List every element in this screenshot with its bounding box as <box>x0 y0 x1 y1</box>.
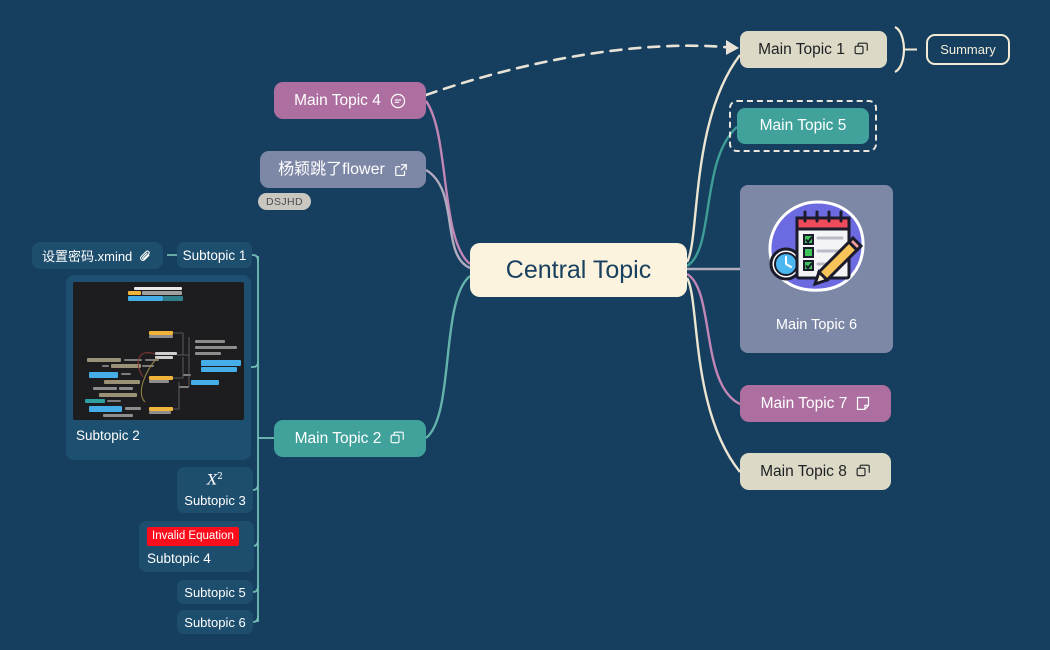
connector-central-to-mt3 <box>426 170 470 268</box>
main-topic-2-label: Main Topic 2 <box>295 431 382 447</box>
central-topic-label: Central Topic <box>506 258 651 283</box>
comment-icon[interactable] <box>390 93 406 109</box>
topic-yangying-flower[interactable]: 杨颖跳了flower <box>260 151 426 188</box>
central-topic[interactable]: Central Topic <box>470 243 687 297</box>
relationship-line-mt4-to-mt1[interactable] <box>426 46 735 95</box>
relationship-arrowhead <box>726 40 739 55</box>
topic-label-dsjhd-text: DSJHD <box>266 196 303 208</box>
copy-icon[interactable] <box>856 464 871 479</box>
equation-exponent: 2 <box>217 472 223 482</box>
subtopic-1[interactable]: Subtopic 1 <box>177 242 252 268</box>
topic-main-topic-5[interactable]: Main Topic 5 <box>737 108 869 144</box>
main-topic-1-label: Main Topic 1 <box>758 42 845 58</box>
checklist-calendar-pencil-clock-icon <box>740 185 893 318</box>
summary-node[interactable]: Summary <box>926 34 1010 65</box>
subtopic-1-label: Subtopic 1 <box>183 248 247 263</box>
connector-central-to-mt4 <box>426 101 470 264</box>
mindmap-canvas[interactable]: Central Topic Main Topic 1 Summary Main … <box>0 0 1050 650</box>
topic-main-topic-1[interactable]: Main Topic 1 <box>740 31 887 68</box>
connector-central-to-mt2 <box>426 276 470 438</box>
external-link-icon[interactable] <box>394 163 408 177</box>
main-topic-6-label: Main Topic 6 <box>776 318 857 337</box>
attachment-filename: 设置密码.xmind <box>42 246 132 265</box>
copy-icon[interactable] <box>390 431 405 446</box>
paperclip-icon[interactable] <box>139 249 153 263</box>
embedded-mindmap-image[interactable] <box>73 282 244 420</box>
invalid-equation-badge[interactable]: Invalid Equation <box>147 527 239 546</box>
main-topic-7-label: Main Topic 7 <box>761 396 848 412</box>
connector-to-st6 <box>253 616 258 622</box>
subtopic-3[interactable]: X2 Subtopic 3 <box>177 467 253 513</box>
attachment-file-node[interactable]: 设置密码.xmind <box>32 242 163 269</box>
subtopic-4-label: Subtopic 4 <box>147 551 211 566</box>
connector-central-to-mt8 <box>687 278 740 472</box>
topic-label-dsjhd[interactable]: DSJHD <box>258 193 311 210</box>
latex-equation[interactable]: X2 <box>207 472 223 489</box>
summary-bracket <box>893 25 921 74</box>
subtopic-2-label: Subtopic 2 <box>73 420 244 443</box>
connector-central-to-mt7 <box>687 274 740 404</box>
subtopic-5-label: Subtopic 5 <box>184 585 245 600</box>
equation-base: X <box>207 473 217 489</box>
topic-main-topic-6[interactable]: Main Topic 6 <box>740 185 893 353</box>
summary-label: Summary <box>940 43 996 56</box>
topic-main-topic-4[interactable]: Main Topic 4 <box>274 82 426 119</box>
subtopic-3-label: Subtopic 3 <box>184 493 245 508</box>
subtopic-4[interactable]: Invalid Equation Subtopic 4 <box>139 521 254 572</box>
subtopic-6[interactable]: Subtopic 6 <box>177 610 253 634</box>
copy-icon[interactable] <box>854 42 869 57</box>
connector-to-st3 <box>253 484 258 490</box>
subtopic-2[interactable]: Subtopic 2 <box>66 275 251 460</box>
note-icon[interactable] <box>856 396 870 411</box>
topic-main-topic-7[interactable]: Main Topic 7 <box>740 385 891 422</box>
connector-to-st2 <box>251 362 258 367</box>
topic-yangying-flower-label: 杨颖跳了flower <box>278 162 385 178</box>
connector-central-to-mt1 <box>687 55 740 262</box>
main-topic-8-label: Main Topic 8 <box>760 464 847 480</box>
main-topic-5-label: Main Topic 5 <box>760 118 847 134</box>
subtopic-5[interactable]: Subtopic 5 <box>177 580 253 604</box>
topic-main-topic-2[interactable]: Main Topic 2 <box>274 420 426 457</box>
subtopic-6-label: Subtopic 6 <box>184 615 245 630</box>
main-topic-4-label: Main Topic 4 <box>294 93 381 109</box>
connector-to-st5 <box>253 586 258 592</box>
connector-to-st1 <box>252 255 258 261</box>
topic-main-topic-8[interactable]: Main Topic 8 <box>740 453 891 490</box>
